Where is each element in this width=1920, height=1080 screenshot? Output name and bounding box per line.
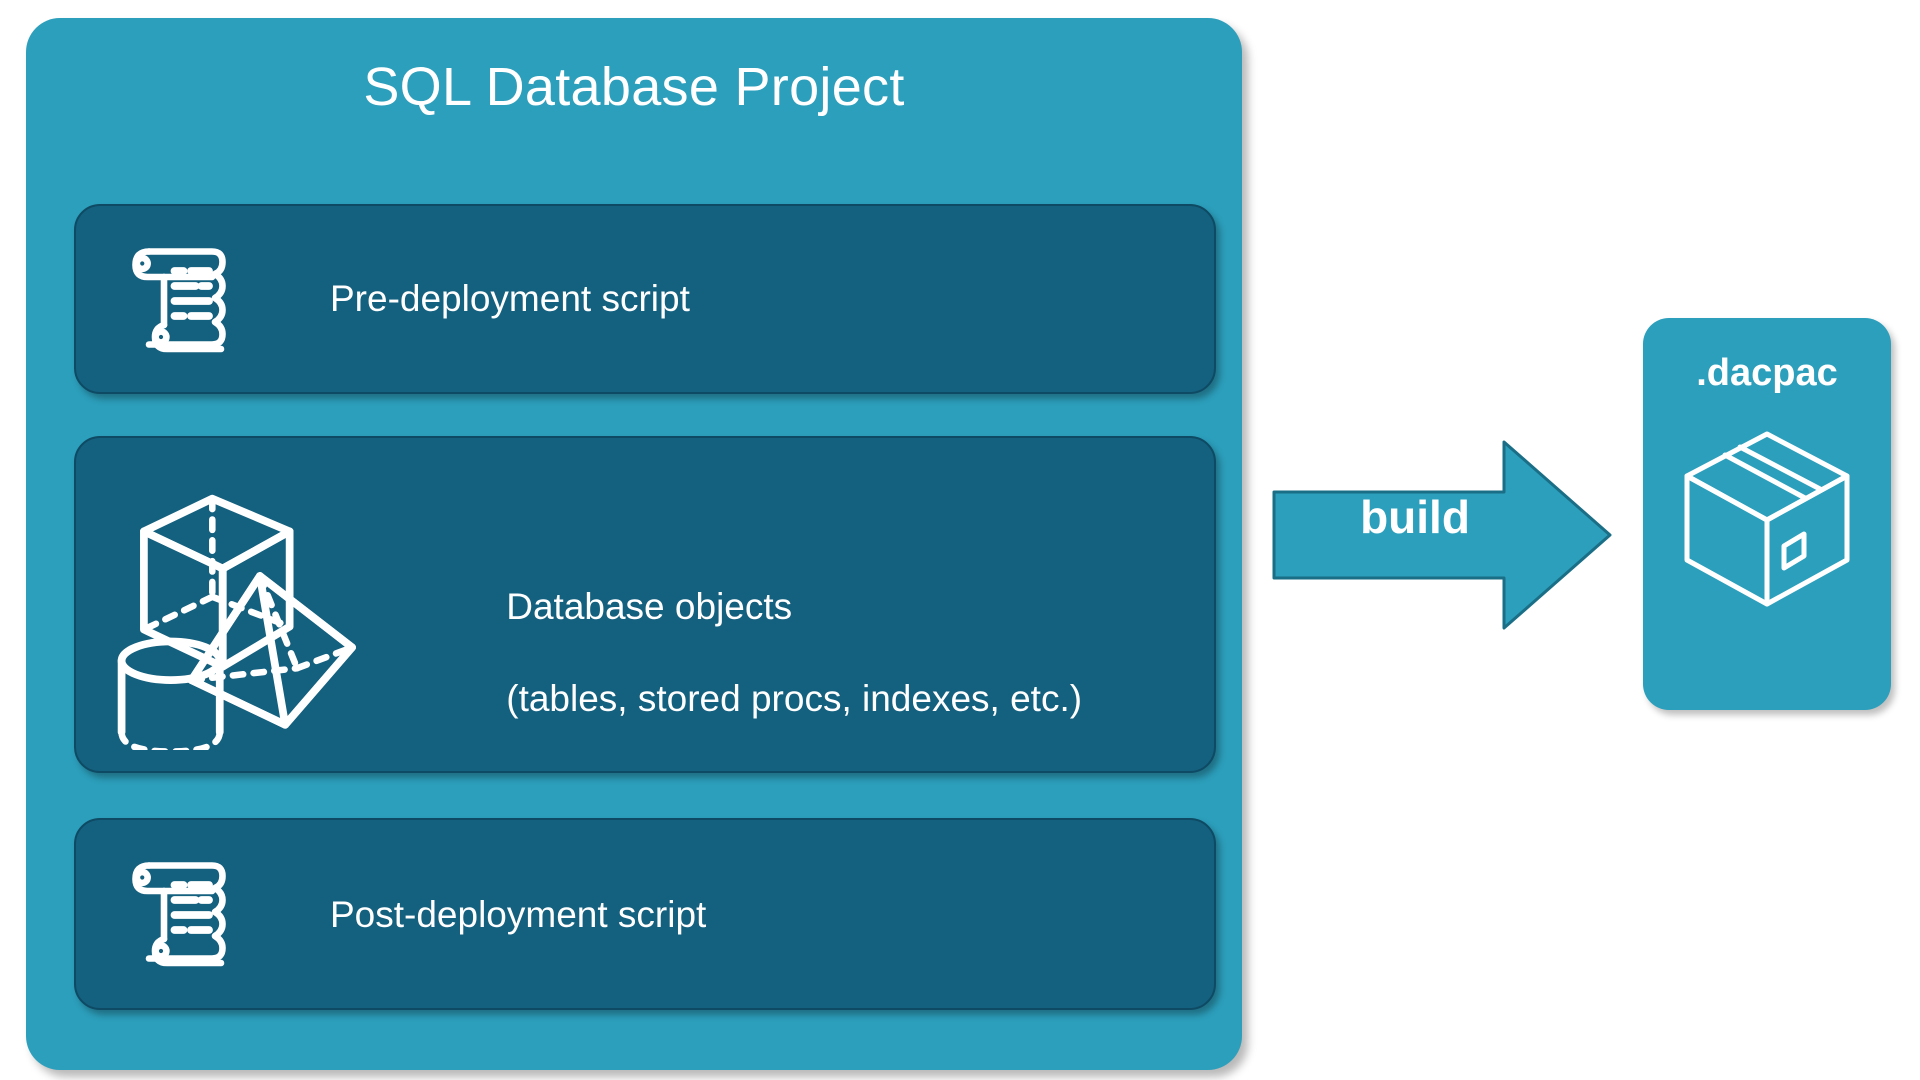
dacpac-label: .dacpac [1643,350,1891,396]
card-post-deployment[interactable]: Post-deployment script [74,818,1216,1010]
diagram-canvas: SQL Database Project [0,0,1920,1080]
card-label-pre-deployment: Pre-deployment script [330,276,690,322]
card-label-post-deployment: Post-deployment script [330,892,706,938]
sql-database-project-container: SQL Database Project [26,18,1242,1070]
package-box-icon [1667,410,1867,631]
card-label-database-objects-line1: Database objects [506,586,792,627]
scroll-icon [104,226,254,381]
build-arrow-label: build [1310,490,1520,544]
database-objects-icon-group [98,460,398,755]
card-label-database-objects: Database objects (tables, stored procs, … [424,538,1082,768]
card-label-database-objects-line2: (tables, stored procs, indexes, etc.) [506,678,1082,719]
card-pre-deployment[interactable]: Pre-deployment script [74,204,1216,394]
dacpac-output-card[interactable]: .dacpac [1643,318,1891,710]
page-title: SQL Database Project [26,56,1242,118]
card-database-objects[interactable]: Database objects (tables, stored procs, … [74,436,1216,773]
scroll-icon [104,840,254,995]
